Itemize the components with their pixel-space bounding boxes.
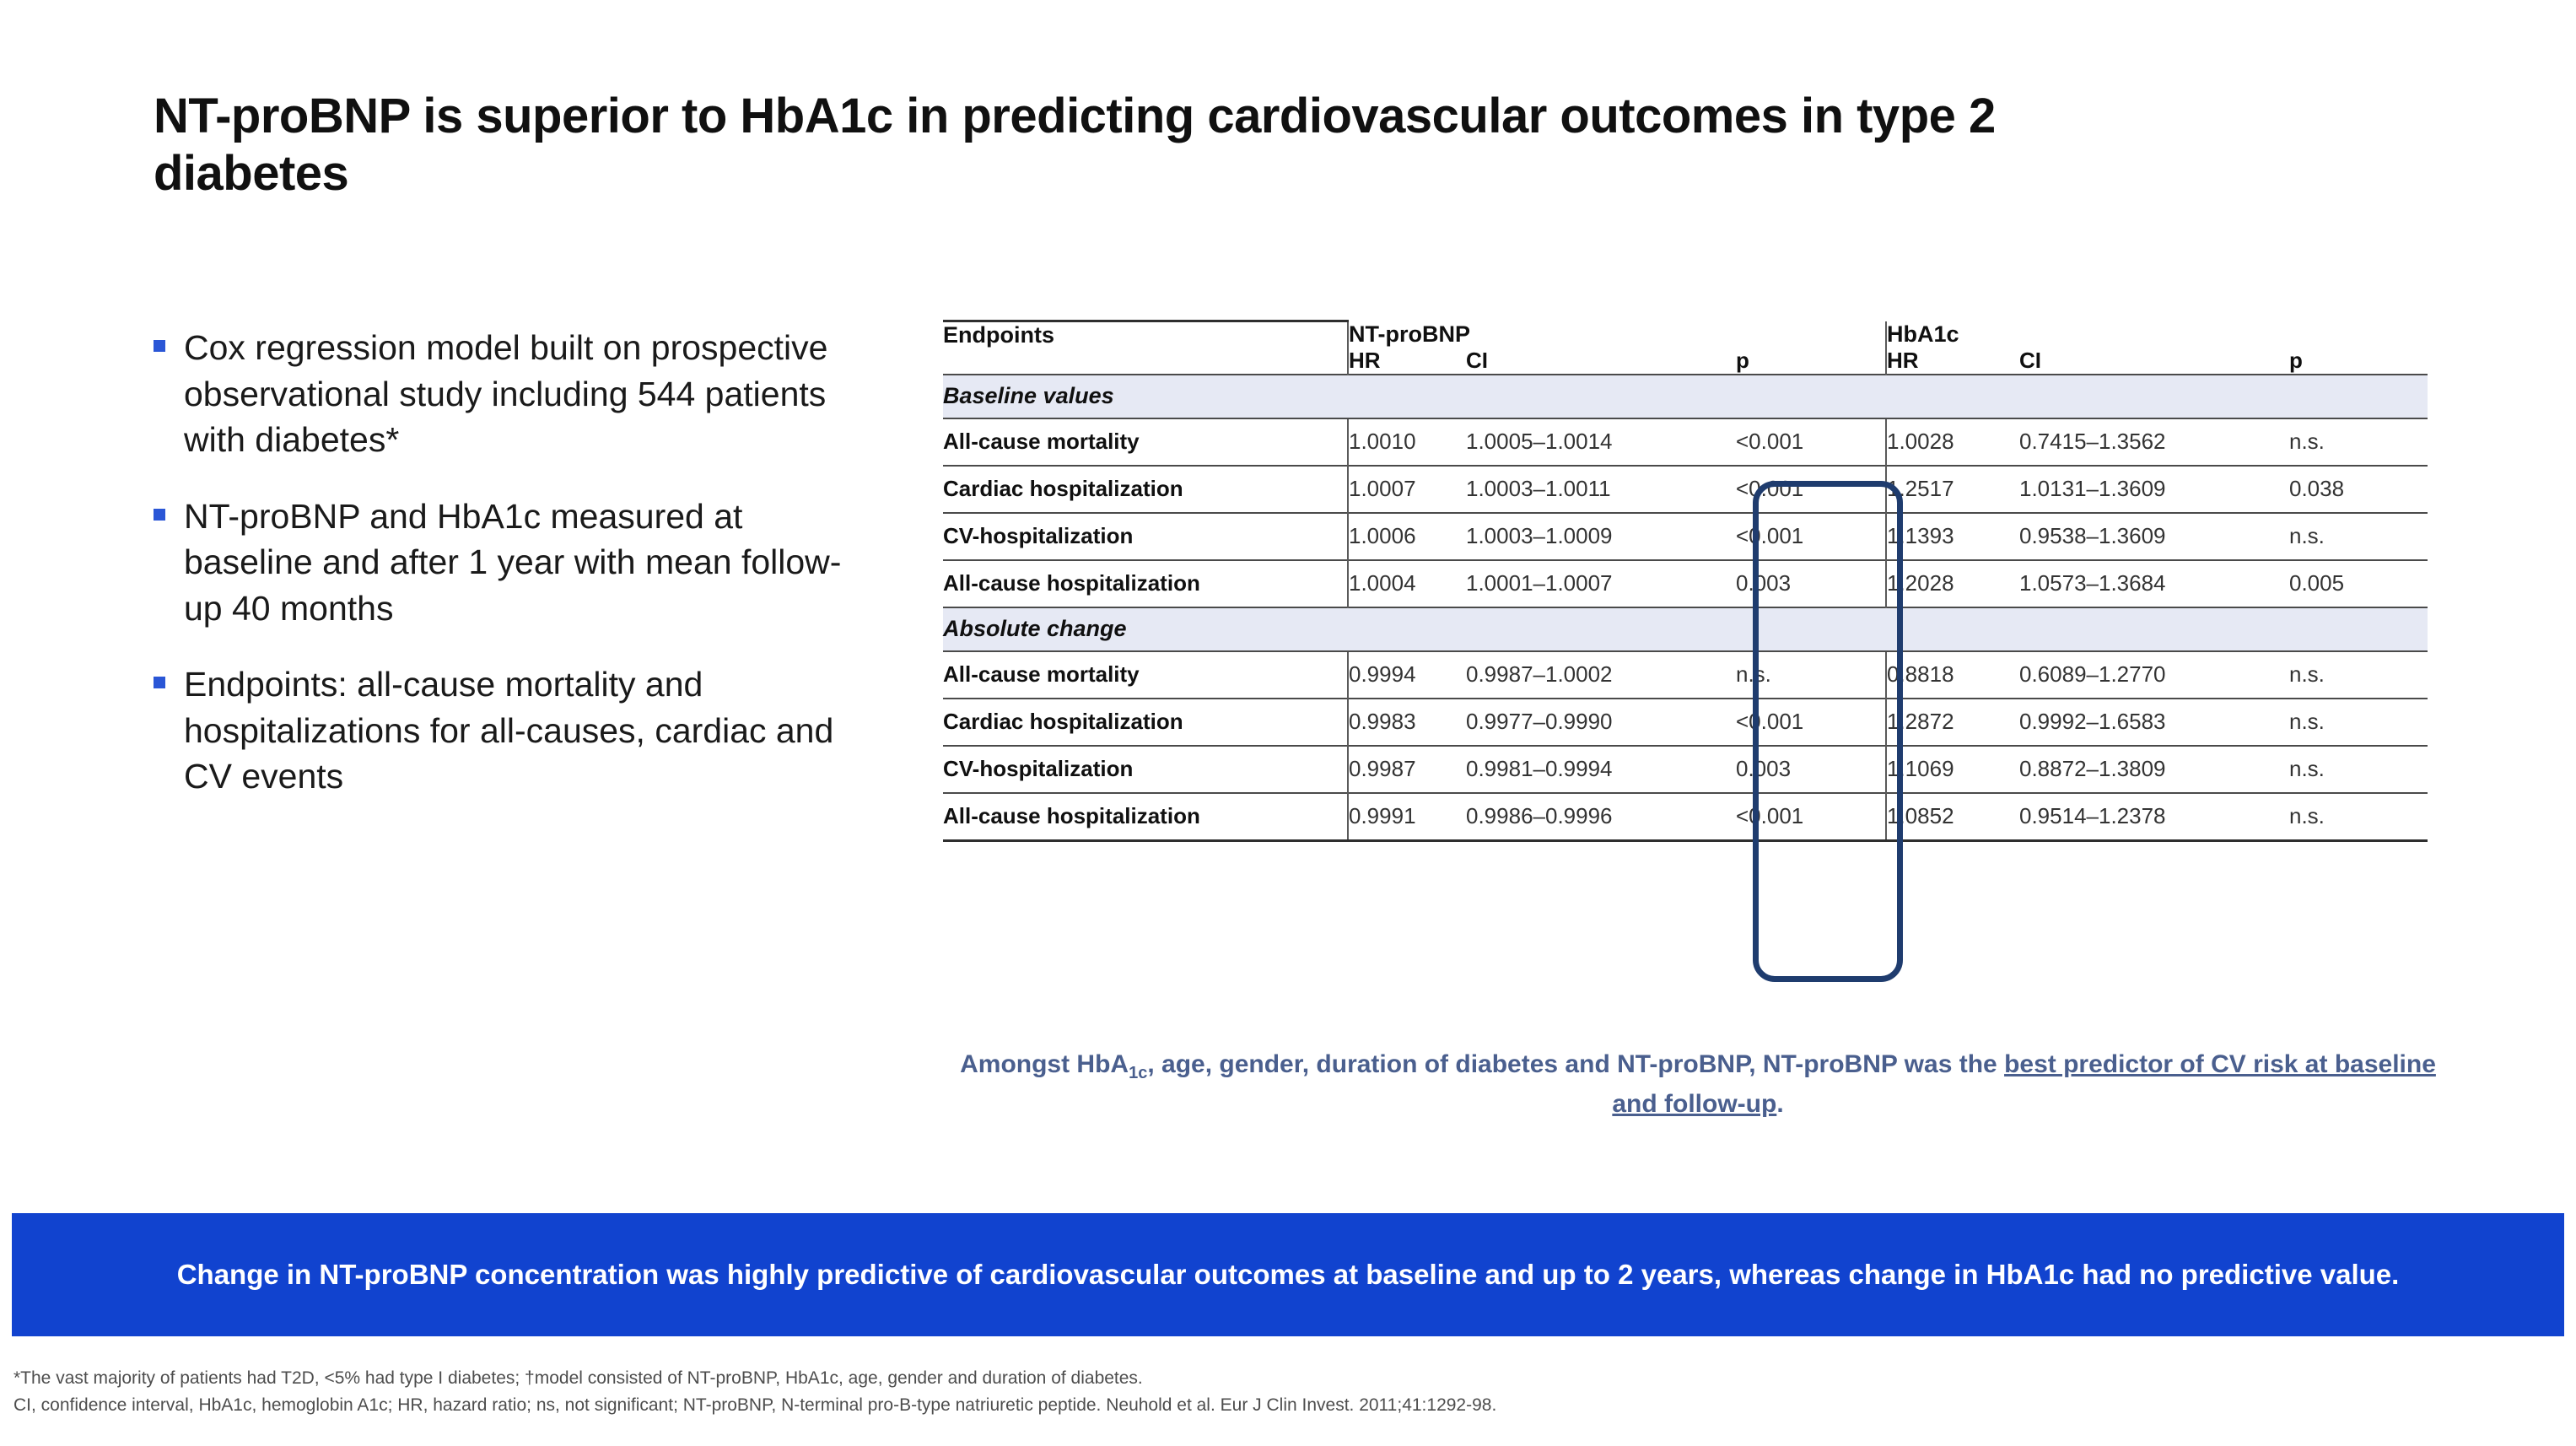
cell-ntprobnp-p: 0.003 (1736, 746, 1886, 793)
cell-hba1c-hr: 1.1069 (1886, 746, 2019, 793)
row-endpoint: All-cause mortality (943, 418, 1348, 466)
cell-hba1c-hr: 1.0852 (1886, 793, 2019, 841)
footnotes: *The vast majority of patients had T2D, … (13, 1365, 2561, 1418)
cell-ntprobnp-p: <0.001 (1736, 513, 1886, 560)
cell-ntprobnp-ci: 1.0005–1.0014 (1466, 418, 1736, 466)
column-header-ntprobnp-ci: CI (1466, 348, 1736, 375)
column-header-ntprobnp-p: p (1736, 348, 1886, 375)
table-row: CV-hospitalization 0.9987 0.9981–0.9994 … (943, 746, 2428, 793)
section-spacer (1348, 607, 1886, 651)
bullet-list: Cox regression model built on prospectiv… (154, 325, 879, 830)
cell-ntprobnp-hr: 1.0004 (1348, 560, 1466, 607)
section-label-baseline: Baseline values (943, 375, 1348, 418)
page-title: NT-proBNP is superior to HbA1c in predic… (154, 88, 2178, 203)
list-item-label: Cox regression model built on prospectiv… (184, 325, 879, 463)
cell-ntprobnp-hr: 1.0007 (1348, 466, 1466, 513)
cell-ntprobnp-hr: 0.9991 (1348, 793, 1466, 841)
cell-ntprobnp-ci: 0.9981–0.9994 (1466, 746, 1736, 793)
cell-ntprobnp-p: 0.003 (1736, 560, 1886, 607)
cell-ntprobnp-ci: 1.0003–1.0009 (1466, 513, 1736, 560)
cell-ntprobnp-hr: 1.0010 (1348, 418, 1466, 466)
list-item-label: Endpoints: all-cause mortality and hospi… (184, 661, 879, 800)
square-bullet-icon (154, 340, 165, 352)
cell-hba1c-ci: 0.6089–1.2770 (2019, 651, 2289, 699)
cell-hba1c-p: n.s. (2289, 793, 2428, 841)
table-row: Cardiac hospitalization 1.0007 1.0003–1.… (943, 466, 2428, 513)
cell-ntprobnp-p: <0.001 (1736, 418, 1886, 466)
row-endpoint: All-cause hospitalization (943, 560, 1348, 607)
key-message-banner: Change in NT-proBNP concentration was hi… (12, 1213, 2564, 1336)
cell-hba1c-p: 0.038 (2289, 466, 2428, 513)
caption-part-2: , age, gender, duration of diabetes and … (1147, 1050, 2004, 1078)
square-bullet-icon (154, 509, 165, 521)
cell-ntprobnp-p: <0.001 (1736, 466, 1886, 513)
key-message-text: Change in NT-proBNP concentration was hi… (177, 1256, 2400, 1293)
column-header-hba1c-p: p (2289, 348, 2428, 375)
caption-subscript: 1c (1129, 1064, 1147, 1082)
row-endpoint: CV-hospitalization (943, 746, 1348, 793)
row-endpoint: Cardiac hospitalization (943, 466, 1348, 513)
group-header-ntprobnp: NT-proBNP (1348, 321, 1886, 348)
cell-hba1c-ci: 0.8872–1.3809 (2019, 746, 2289, 793)
row-endpoint: All-cause hospitalization (943, 793, 1348, 841)
cell-ntprobnp-ci: 1.0001–1.0007 (1466, 560, 1736, 607)
list-item: Endpoints: all-cause mortality and hospi… (154, 661, 879, 800)
section-spacer (1348, 375, 1886, 418)
column-header-hba1c-ci: CI (2019, 348, 2289, 375)
cell-ntprobnp-hr: 0.9987 (1348, 746, 1466, 793)
cell-hba1c-p: n.s. (2289, 418, 2428, 466)
table-row: CV-hospitalization 1.0006 1.0003–1.0009 … (943, 513, 2428, 560)
cell-hba1c-p: n.s. (2289, 746, 2428, 793)
list-item: NT-proBNP and HbA1c measured at baseline… (154, 494, 879, 632)
cell-ntprobnp-ci: 1.0003–1.0011 (1466, 466, 1736, 513)
cell-ntprobnp-ci: 0.9986–0.9996 (1466, 793, 1736, 841)
row-endpoint: All-cause mortality (943, 651, 1348, 699)
cell-ntprobnp-hr: 0.9994 (1348, 651, 1466, 699)
row-endpoint: Cardiac hospitalization (943, 699, 1348, 746)
column-header-ntprobnp-hr: HR (1348, 348, 1466, 375)
row-endpoint: CV-hospitalization (943, 513, 1348, 560)
column-header-endpoints: Endpoints (943, 321, 1348, 375)
section-spacer (1886, 607, 2428, 651)
cell-ntprobnp-p: <0.001 (1736, 699, 1886, 746)
results-table: Endpoints NT-proBNP HbA1c HR CI p HR CI … (943, 320, 2428, 842)
footnote-line-2: CI, confidence interval, HbA1c, hemoglob… (13, 1392, 2561, 1419)
table-row: All-cause hospitalization 0.9991 0.9986–… (943, 793, 2428, 841)
table-section-header: Absolute change (943, 607, 2428, 651)
caption-part-1: Amongst HbA (960, 1050, 1129, 1078)
column-header-hba1c-hr: HR (1886, 348, 2019, 375)
cell-ntprobnp-hr: 1.0006 (1348, 513, 1466, 560)
cell-ntprobnp-p: n.s. (1736, 651, 1886, 699)
list-item-label: NT-proBNP and HbA1c measured at baseline… (184, 494, 879, 632)
footnote-line-1: *The vast majority of patients had T2D, … (13, 1365, 2561, 1392)
square-bullet-icon (154, 677, 165, 688)
cell-ntprobnp-ci: 0.9977–0.9990 (1466, 699, 1736, 746)
cell-hba1c-ci: 1.0131–1.3609 (2019, 466, 2289, 513)
cell-ntprobnp-hr: 0.9983 (1348, 699, 1466, 746)
section-spacer (1886, 375, 2428, 418)
cell-hba1c-hr: 0.8818 (1886, 651, 2019, 699)
group-header-hba1c: HbA1c (1886, 321, 2428, 348)
cell-hba1c-ci: 0.9992–1.6583 (2019, 699, 2289, 746)
cell-hba1c-hr: 1.2028 (1886, 560, 2019, 607)
cell-ntprobnp-p: <0.001 (1736, 793, 1886, 841)
cell-hba1c-hr: 1.0028 (1886, 418, 2019, 466)
cell-hba1c-p: n.s. (2289, 699, 2428, 746)
table-row: All-cause mortality 0.9994 0.9987–1.0002… (943, 651, 2428, 699)
caption-period: . (1776, 1090, 1783, 1118)
table-row: All-cause hospitalization 1.0004 1.0001–… (943, 560, 2428, 607)
section-label-absolute-change: Absolute change (943, 607, 1348, 651)
cell-hba1c-ci: 0.9538–1.3609 (2019, 513, 2289, 560)
cell-hba1c-hr: 1.2872 (1886, 699, 2019, 746)
list-item: Cox regression model built on prospectiv… (154, 325, 879, 463)
table-row: All-cause mortality 1.0010 1.0005–1.0014… (943, 418, 2428, 466)
cell-hba1c-hr: 1.2517 (1886, 466, 2019, 513)
table-header-row: Endpoints NT-proBNP HbA1c (943, 321, 2428, 348)
cell-hba1c-p: n.s. (2289, 651, 2428, 699)
cell-ntprobnp-ci: 0.9987–1.0002 (1466, 651, 1736, 699)
table-section-header: Baseline values (943, 375, 2428, 418)
table-row: Cardiac hospitalization 0.9983 0.9977–0.… (943, 699, 2428, 746)
cell-hba1c-ci: 0.9514–1.2378 (2019, 793, 2289, 841)
cell-hba1c-p: n.s. (2289, 513, 2428, 560)
table-caption: Amongst HbA1c, age, gender, duration of … (943, 1046, 2453, 1123)
cell-hba1c-hr: 1.1393 (1886, 513, 2019, 560)
cell-hba1c-p: 0.005 (2289, 560, 2428, 607)
cell-hba1c-ci: 0.7415–1.3562 (2019, 418, 2289, 466)
cell-hba1c-ci: 1.0573–1.3684 (2019, 560, 2289, 607)
